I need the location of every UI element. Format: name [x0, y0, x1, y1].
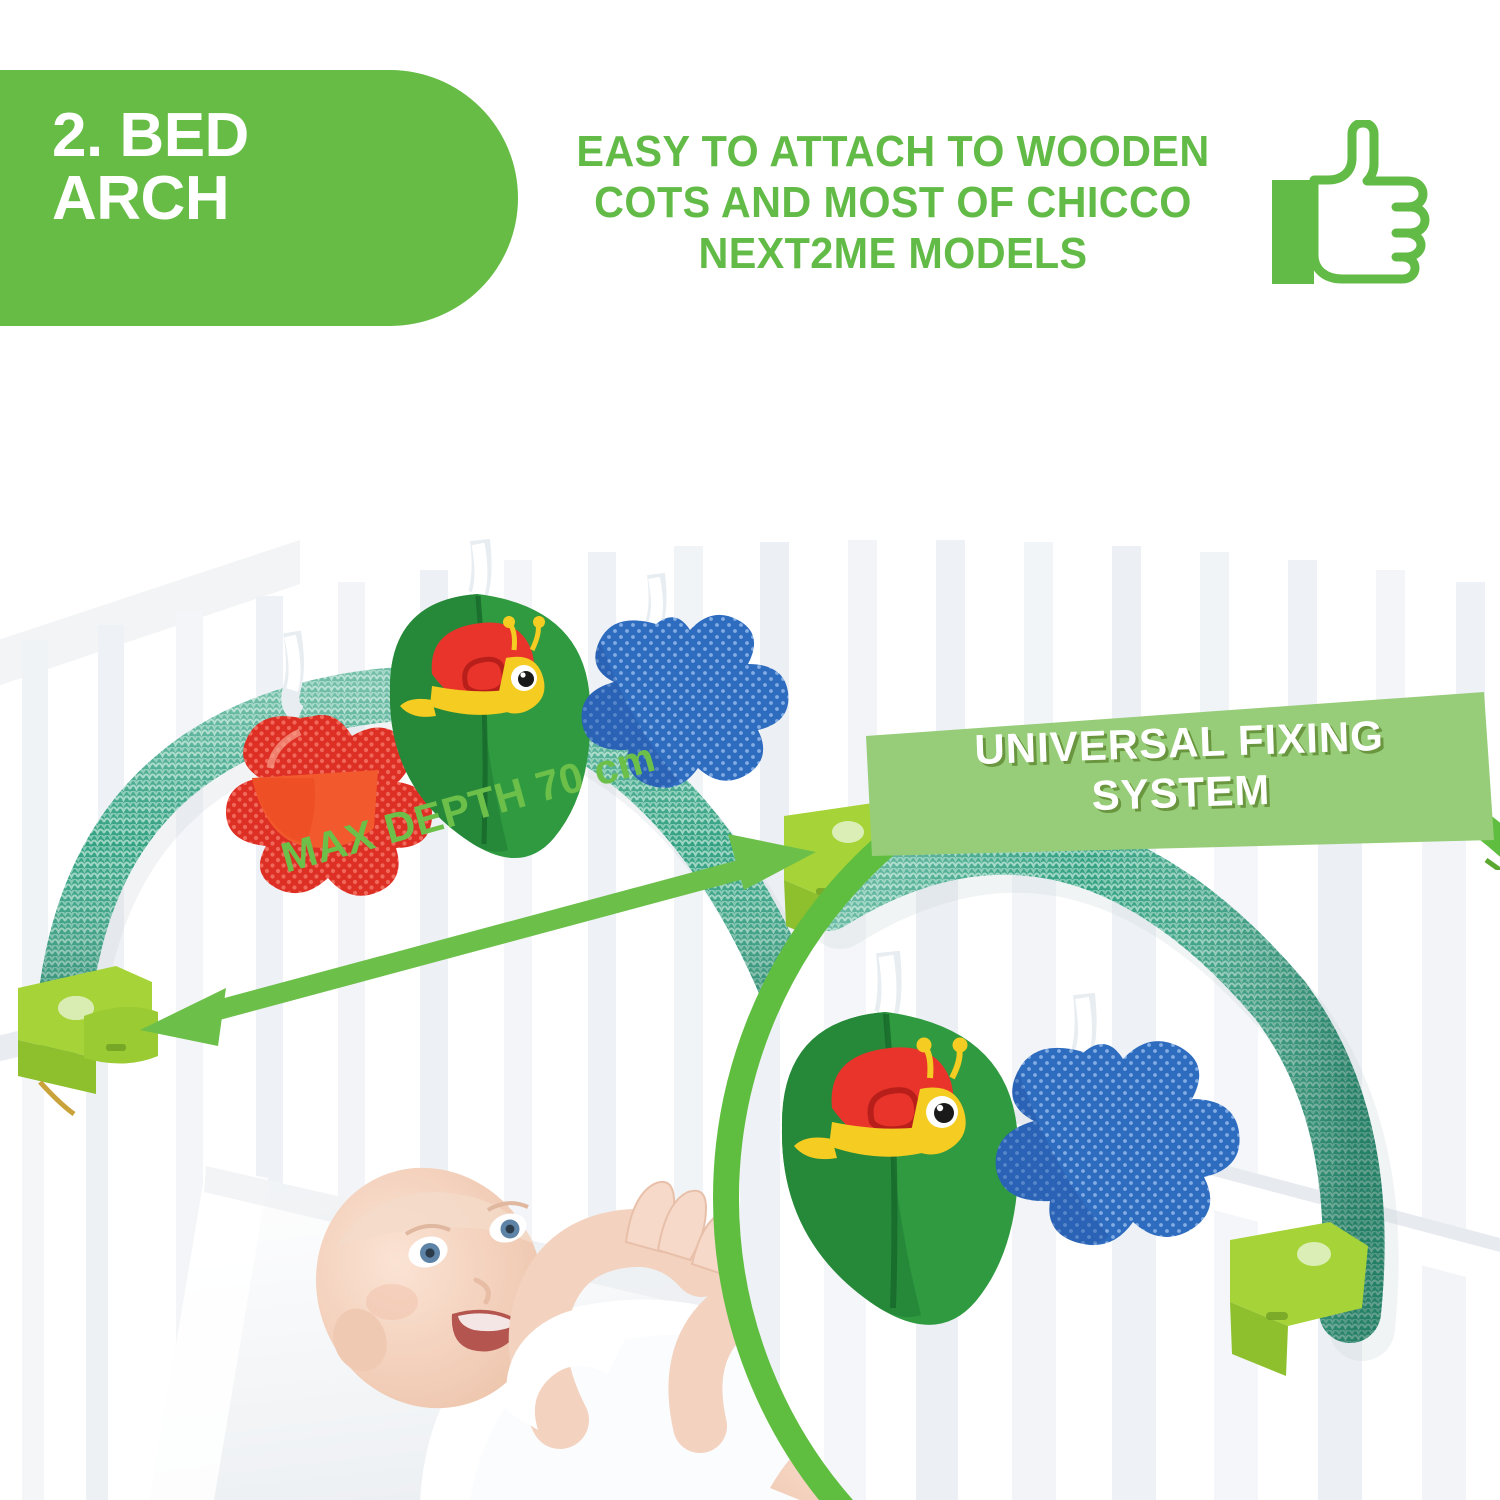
infographic-page: 2. BED ARCH EASY TO ATTACH TO WOODEN COT… [0, 0, 1500, 1500]
universal-fixing-label: UNIVERSAL FIXING SYSTEM [898, 708, 1461, 827]
headline-line2: COTS AND MOST OF CHICCO [550, 177, 1236, 228]
product-photo-scene [0, 340, 1500, 1500]
step-badge-line1: 2. BED [52, 104, 452, 167]
step-badge-line2: ARCH [52, 167, 452, 230]
headline-line3: NEXT2ME MODELS [550, 228, 1236, 279]
step-badge-label: 2. BED ARCH [52, 104, 452, 230]
headline-line1: EASY TO ATTACH TO WOODEN [550, 126, 1236, 177]
thumbs-up-icon [1268, 120, 1438, 290]
headline: EASY TO ATTACH TO WOODEN COTS AND MOST O… [550, 126, 1236, 279]
